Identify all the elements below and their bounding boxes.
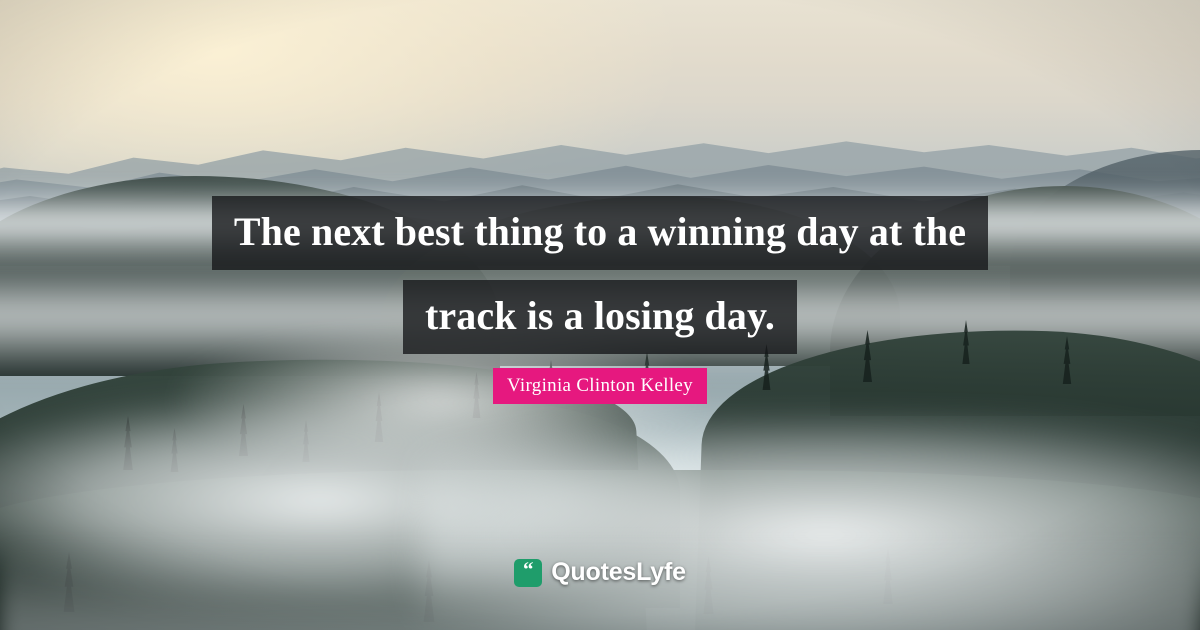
quote-image-canvas: The next best thing to a winning day at … <box>0 0 1200 630</box>
quote-line-1: The next best thing to a winning day at … <box>212 196 988 270</box>
quote-line-2: track is a losing day. <box>403 280 797 354</box>
quote-author: Virginia Clinton Kelley <box>493 368 707 404</box>
brand-logo[interactable]: “ QuotesLyfe <box>0 558 1200 587</box>
quote-author-block: Virginia Clinton Kelley <box>0 368 1200 404</box>
quote-text-block: The next best thing to a winning day at … <box>0 196 1200 364</box>
brand-name: QuotesLyfe <box>551 558 686 587</box>
quote-mark-icon: “ <box>514 559 542 587</box>
